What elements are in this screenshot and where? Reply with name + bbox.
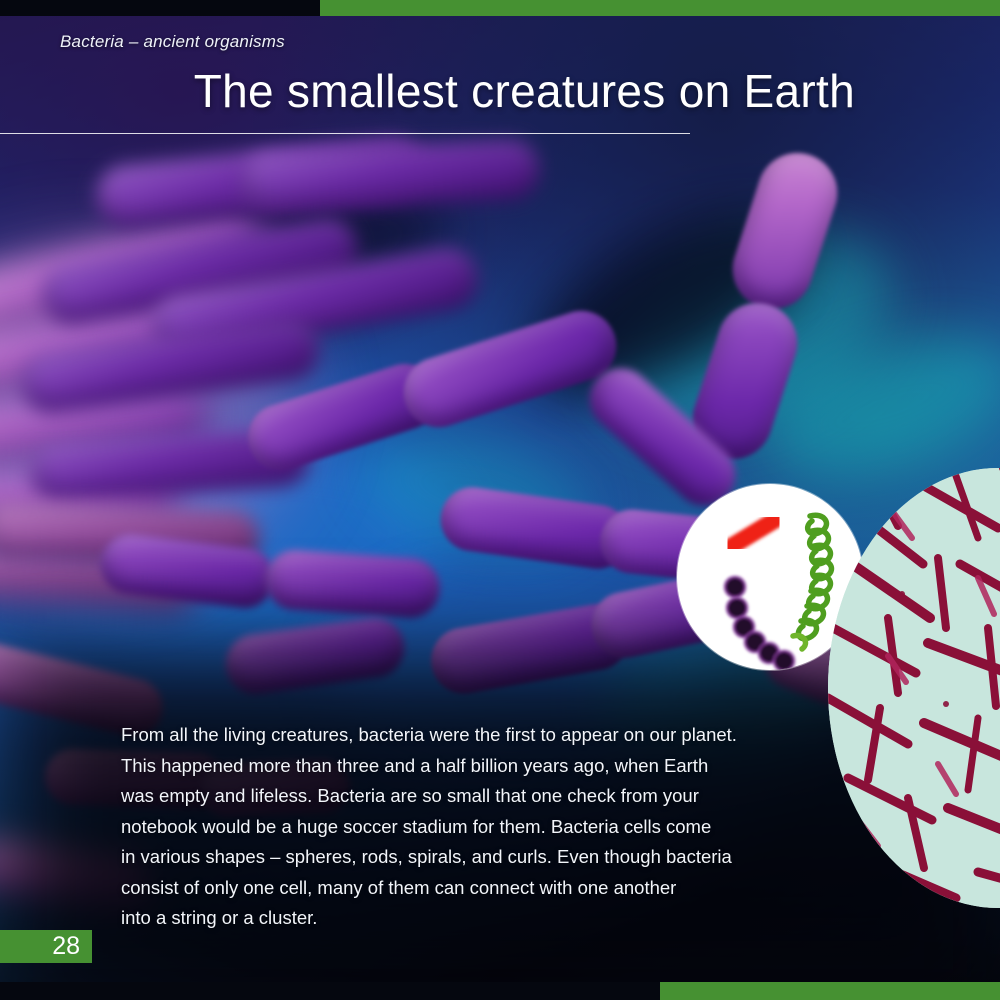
page-title: The smallest creatures on Earth xyxy=(0,64,855,118)
green-spiral-icon xyxy=(793,515,831,649)
top-accent-bar xyxy=(320,0,1000,16)
bacterium-rod xyxy=(222,614,409,698)
section-kicker: Bacteria – ancient organisms xyxy=(60,32,285,52)
bottom-accent-bar xyxy=(660,982,1000,1000)
page-number: 28 xyxy=(52,934,80,959)
page-number-badge: 28 xyxy=(0,930,92,963)
bacterium-rod xyxy=(395,302,626,437)
bacterium-rod xyxy=(722,143,848,320)
red-rod-icon xyxy=(732,520,775,546)
title-rule xyxy=(0,133,690,134)
book-page: Bacteria – ancient organisms The smalles… xyxy=(0,0,1000,1000)
body-paragraph: From all the living creatures, bacteria … xyxy=(121,720,821,934)
bacterium-rod xyxy=(263,548,442,620)
coccus-chain-icon xyxy=(725,577,794,670)
